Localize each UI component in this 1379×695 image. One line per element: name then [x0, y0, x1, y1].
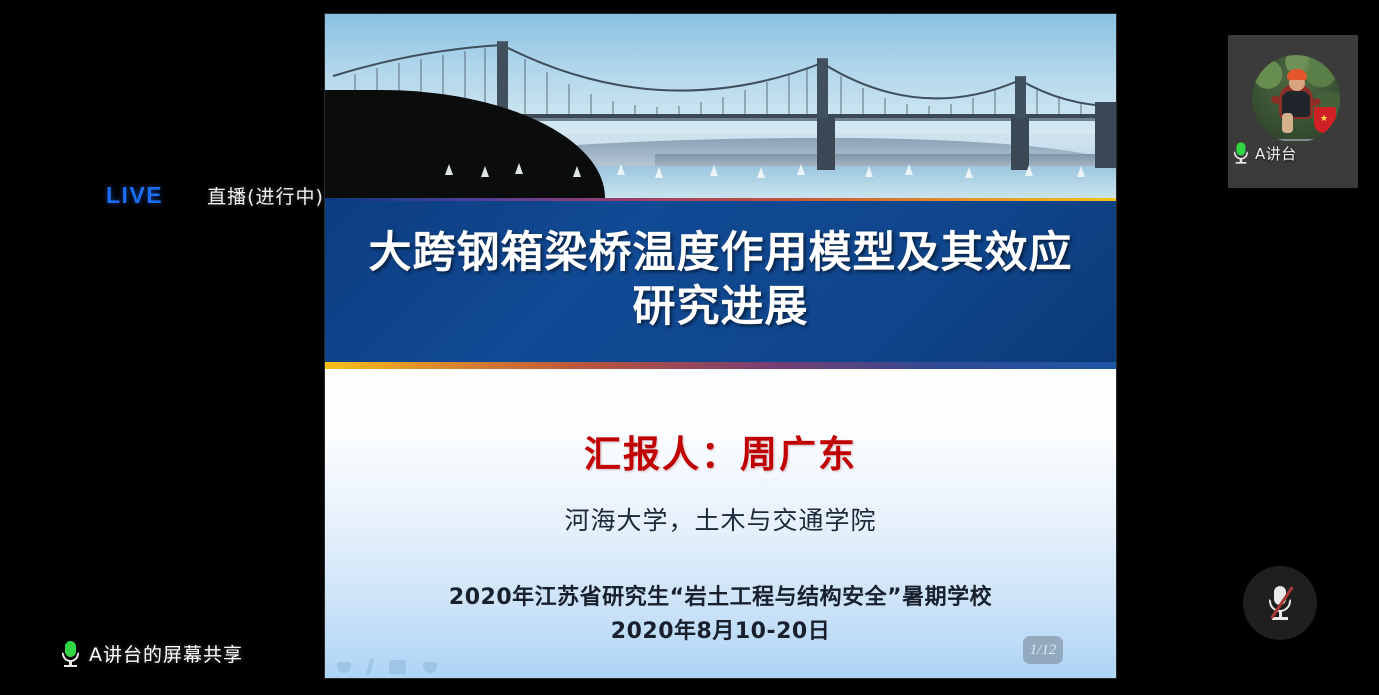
screen-share-status: A讲台的屏幕共享	[62, 640, 243, 667]
participant-label: A讲台	[1234, 140, 1297, 166]
microphone-icon	[62, 641, 79, 667]
presenter-toolbar[interactable]	[337, 659, 437, 675]
event-date: 2020年8月10-20日	[325, 613, 1116, 645]
live-status-label: 直播(进行中)	[207, 182, 324, 209]
microphone-muted-icon	[1266, 584, 1294, 622]
slide-body: 汇报人：周广东 河海大学，土木与交通学院 2020年江苏省研究生“岩土工程与结构…	[325, 369, 1116, 678]
pen-icon[interactable]	[366, 659, 375, 675]
slide-navigator-icon[interactable]	[389, 660, 406, 674]
event-name: 2020年江苏省研究生“岩土工程与结构安全”暑期学校	[325, 579, 1116, 611]
slide-title-band: 大跨钢箱梁桥温度作用模型及其效应研究进展	[325, 198, 1116, 364]
accent-line-top	[325, 198, 1116, 201]
presenter-name: 汇报人：周广东	[325, 424, 1116, 478]
laser-pointer-icon[interactable]	[337, 662, 351, 673]
microphone-icon	[1234, 142, 1248, 163]
zoom-meeting-screen: LIVE 直播(进行中) A讲台的屏幕共享	[0, 0, 1379, 695]
mute-button[interactable]	[1243, 566, 1317, 640]
zoom-icon[interactable]	[423, 662, 437, 673]
accent-line-bottom	[325, 362, 1116, 369]
page-indicator: 1/12	[1023, 636, 1063, 664]
participant-name: A讲台	[1255, 143, 1297, 164]
presenter-affiliation: 河海大学，土木与交通学院	[325, 501, 1116, 537]
avatar: ★	[1252, 55, 1340, 143]
slide-title: 大跨钢箱梁桥温度作用模型及其效应研究进展	[325, 227, 1116, 335]
participant-thumbnail[interactable]: ★ A讲台	[1228, 35, 1358, 188]
screen-share-label: A讲台的屏幕共享	[89, 640, 243, 667]
live-indicator: LIVE 直播(进行中)	[106, 182, 324, 209]
shared-slide[interactable]: 大跨钢箱梁桥温度作用模型及其效应研究进展 汇报人：周广东 河海大学，土木与交通学…	[325, 14, 1116, 678]
live-badge: LIVE	[106, 182, 163, 209]
bridge-photo	[325, 14, 1116, 198]
